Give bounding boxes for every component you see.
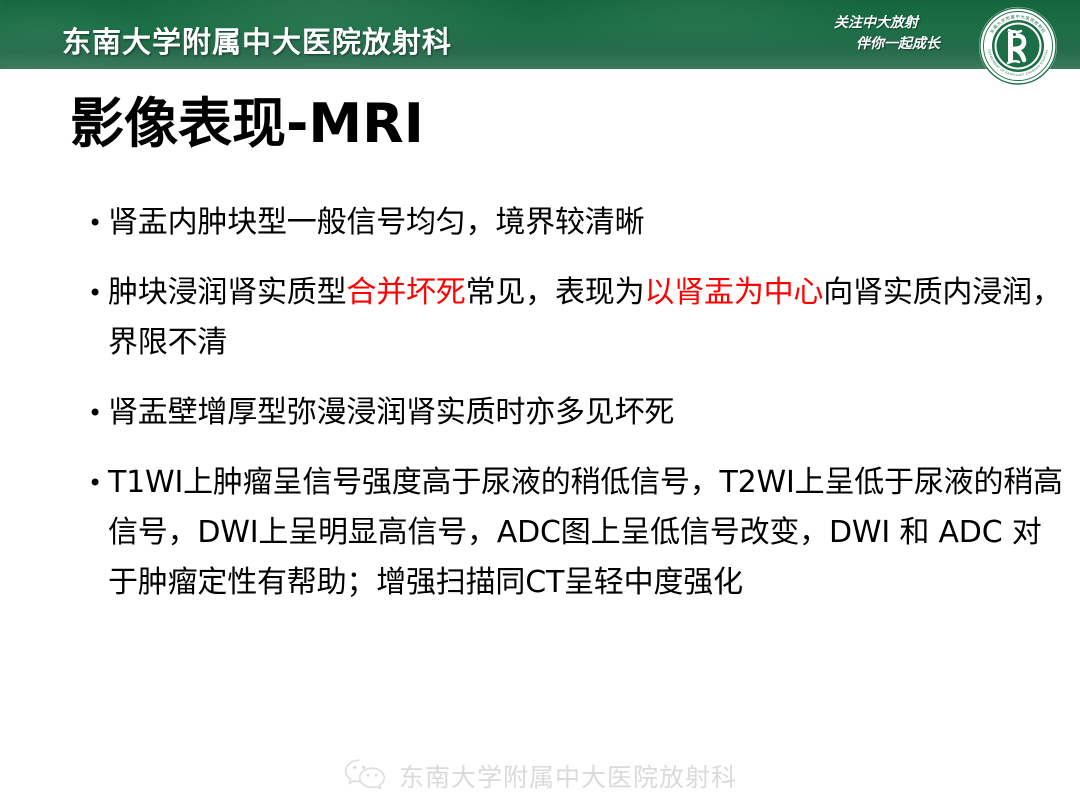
wechat-icon: [343, 757, 387, 794]
list-item: • 肾盂内肿块型一般信号均匀，境界较清晰: [88, 198, 1063, 248]
bullet-segment: 常见，表现为: [466, 275, 645, 310]
bullet-text: T1WI上肿瘤呈信号强度高于尿液的稍低信号，T2WI上呈低于尿液的稍高信号，DW…: [108, 458, 1063, 608]
bullet-segment-highlight: 合并坏死: [346, 275, 465, 310]
footer-watermark: 东南大学附属中大医院放射科: [0, 757, 1080, 794]
footer-watermark-text: 东南大学附属中大医院放射科: [399, 758, 737, 794]
bullet-marker-icon: •: [88, 198, 108, 248]
header-slogan: 关注中大放射 伴你一起成长: [834, 13, 940, 55]
list-item: • T1WI上肿瘤呈信号强度高于尿液的稍低信号，T2WI上呈低于尿液的稍高信号，…: [88, 458, 1063, 608]
bullet-segment: 肾盂内肿块型一般信号均匀，境界较清晰: [108, 205, 644, 240]
bullet-marker-icon: •: [88, 458, 108, 508]
page-title: 影像表现-MRI: [70, 96, 424, 153]
hospital-radiology-logo-icon: 东南大学附属中大医院放射科 DEPARTMENT OF RADIOLOGY ZH…: [978, 6, 1058, 86]
bullet-segment: 肾盂壁增厚型弥漫浸润肾实质时亦多见坏死: [108, 395, 674, 430]
header-slogan-line-1: 关注中大放射: [834, 13, 940, 34]
bullet-marker-icon: •: [88, 388, 108, 438]
bullet-segment: T1WI上肿瘤呈信号强度高于尿液的稍低信号，T2WI上呈低于尿液的稍高信号，DW…: [108, 465, 1063, 600]
slide-header-band: 东南大学附属中大医院放射科 关注中大放射 伴你一起成长: [0, 0, 1080, 69]
list-item: • 肿块浸润肾实质型合并坏死常见，表现为以肾盂为中心向肾实质内浸润，界限不清: [88, 268, 1063, 368]
bullet-text: 肾盂壁增厚型弥漫浸润肾实质时亦多见坏死: [108, 388, 1063, 438]
bullet-segment-highlight: 以肾盂为中心: [644, 275, 823, 310]
bullet-list: • 肾盂内肿块型一般信号均匀，境界较清晰 • 肿块浸润肾实质型合并坏死常见，表现…: [88, 198, 1063, 608]
list-item: • 肾盂壁增厚型弥漫浸润肾实质时亦多见坏死: [88, 388, 1063, 438]
header-slogan-line-2: 伴你一起成长: [834, 34, 940, 55]
header-institution-title: 东南大学附属中大医院放射科: [62, 19, 452, 61]
bullet-text: 肾盂内肿块型一般信号均匀，境界较清晰: [108, 198, 1063, 248]
bullet-text: 肿块浸润肾实质型合并坏死常见，表现为以肾盂为中心向肾实质内浸润，界限不清: [108, 268, 1063, 368]
bullet-marker-icon: •: [88, 268, 108, 318]
bullet-segment: 肿块浸润肾实质型: [108, 275, 346, 310]
